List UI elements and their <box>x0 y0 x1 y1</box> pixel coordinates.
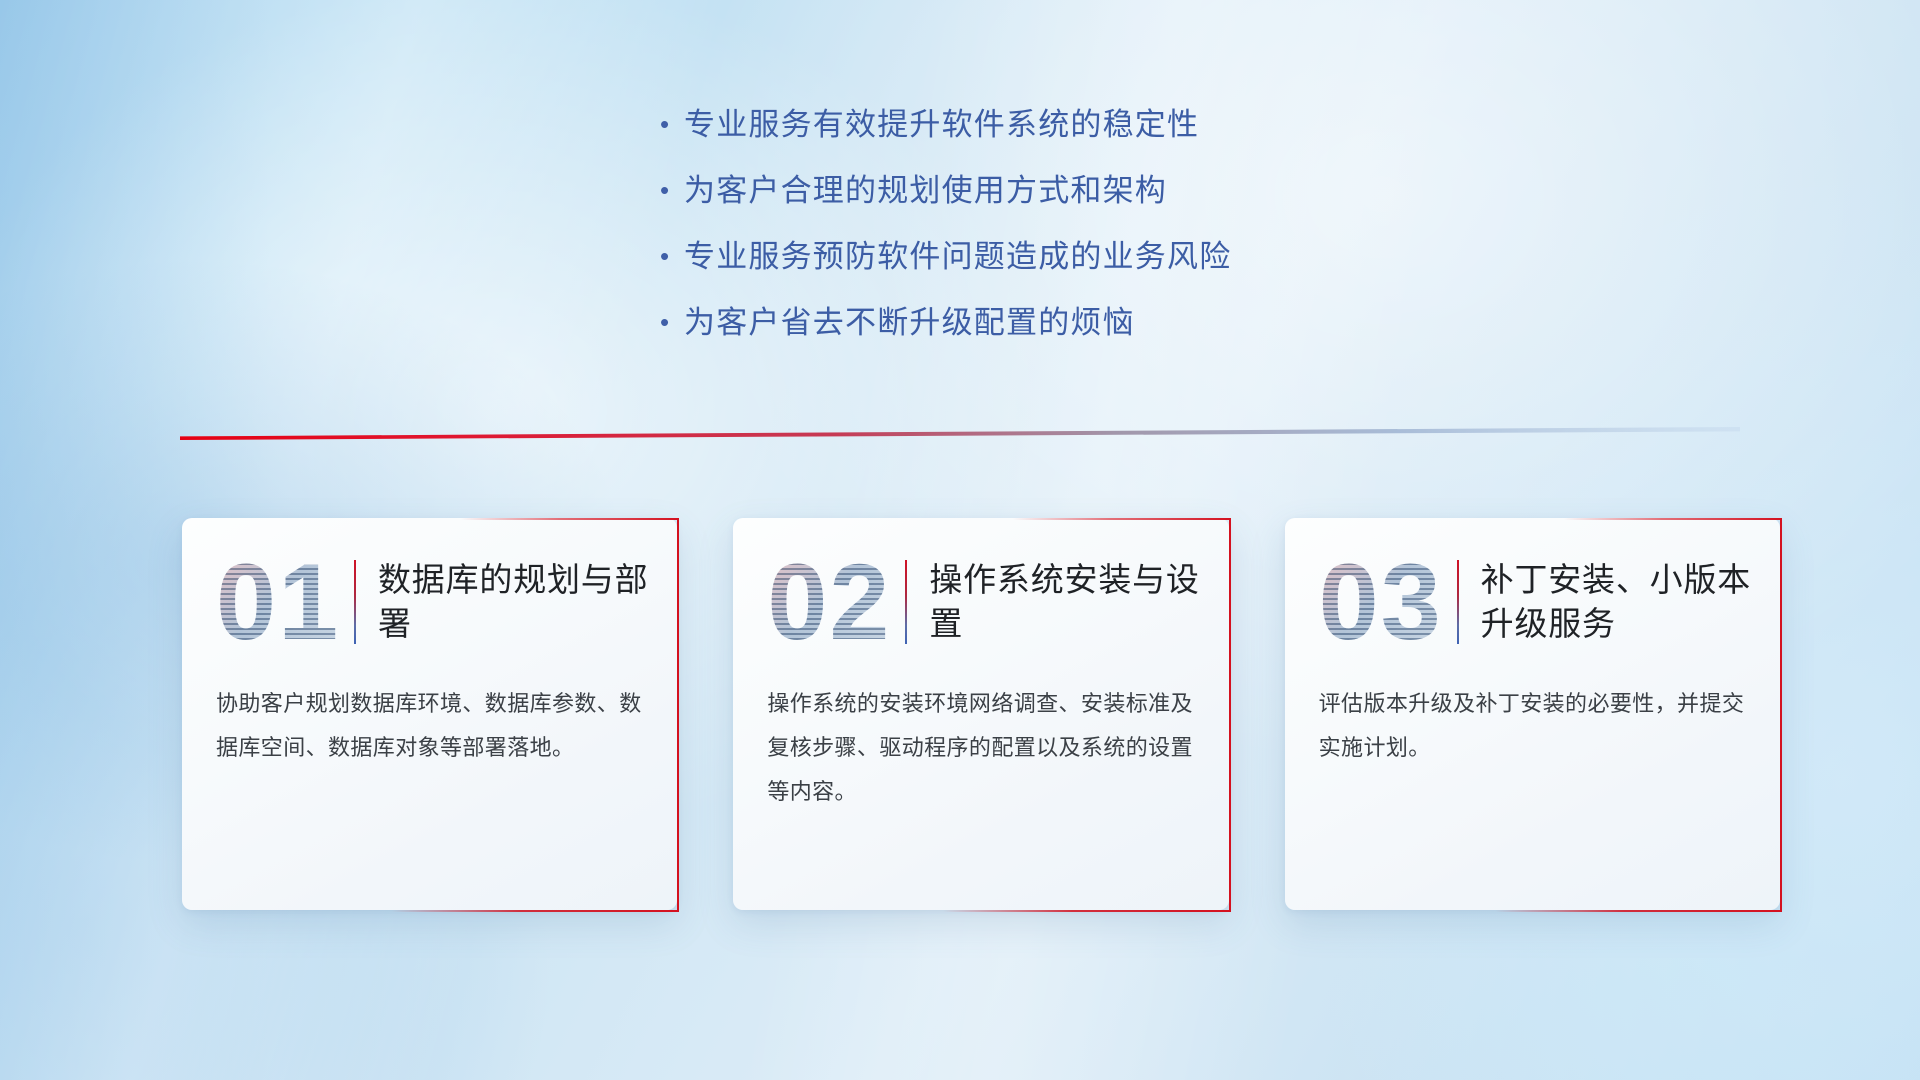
card-accent-bottom <box>943 910 1230 912</box>
card-accent-edge <box>1780 518 1782 912</box>
card-title: 操作系统安装与设置 <box>929 558 1202 645</box>
card-accent-edge <box>1229 518 1231 912</box>
bullet-text: 专业服务有效提升软件系统的稳定性 <box>684 104 1199 146</box>
service-card-02[interactable]: 02 操作系统安装与设置 操作系统的安装环境网络调查、安装标准及复核步骤、驱动程… <box>733 518 1228 910</box>
card-accent-bottom <box>392 910 679 912</box>
divider-shape-icon <box>180 424 1740 444</box>
list-item: • 为客户省去不断升级配置的烦恼 <box>660 302 1231 344</box>
card-title: 补丁安装、小版本升级服务 <box>1481 558 1754 645</box>
card-description: 操作系统的安装环境网络调查、安装标准及复核步骤、驱动程序的配置以及系统的设置等内… <box>733 678 1228 814</box>
card-number: 03 <box>1319 548 1451 656</box>
slide-canvas: • 专业服务有效提升软件系统的稳定性 • 为客户合理的规划使用方式和架构 • 专… <box>0 0 1920 1080</box>
bullet-text: 专业服务预防软件问题造成的业务风险 <box>684 236 1231 278</box>
card-header: 03 补丁安装、小版本升级服务 <box>1285 518 1780 678</box>
card-accent-edge <box>677 518 679 912</box>
bullet-text: 为客户省去不断升级配置的烦恼 <box>684 302 1135 344</box>
bullet-dot-icon: • <box>660 243 684 269</box>
card-number: 01 <box>216 548 348 656</box>
card-description: 协助客户规划数据库环境、数据库参数、数据库空间、数据库对象等部署落地。 <box>182 678 677 770</box>
card-header: 02 操作系统安装与设置 <box>733 518 1228 678</box>
list-item: • 专业服务有效提升软件系统的稳定性 <box>660 104 1231 146</box>
benefits-bullet-list: • 专业服务有效提升软件系统的稳定性 • 为客户合理的规划使用方式和架构 • 专… <box>660 104 1231 367</box>
bullet-dot-icon: • <box>660 309 684 335</box>
bullet-dot-icon: • <box>660 177 684 203</box>
card-title: 数据库的规划与部署 <box>378 558 651 645</box>
title-rule-divider <box>905 560 907 644</box>
title-rule-divider <box>354 560 356 644</box>
service-card-03[interactable]: 03 补丁安装、小版本升级服务 评估版本升级及补丁安装的必要性，并提交实施计划。 <box>1285 518 1780 910</box>
bullet-dot-icon: • <box>660 111 684 137</box>
card-header: 01 数据库的规划与部署 <box>182 518 677 678</box>
list-item: • 为客户合理的规划使用方式和架构 <box>660 170 1231 212</box>
bullet-text: 为客户合理的规划使用方式和架构 <box>684 170 1167 212</box>
list-item: • 专业服务预防软件问题造成的业务风险 <box>660 236 1231 278</box>
card-number: 02 <box>767 548 899 656</box>
service-card-01[interactable]: 01 数据库的规划与部署 协助客户规划数据库环境、数据库参数、数据库空间、数据库… <box>182 518 677 910</box>
title-rule-divider <box>1457 560 1459 644</box>
card-accent-bottom <box>1495 910 1782 912</box>
card-description: 评估版本升级及补丁安装的必要性，并提交实施计划。 <box>1285 678 1780 770</box>
service-card-row: 01 数据库的规划与部署 协助客户规划数据库环境、数据库参数、数据库空间、数据库… <box>182 518 1780 910</box>
section-divider <box>180 424 1740 444</box>
